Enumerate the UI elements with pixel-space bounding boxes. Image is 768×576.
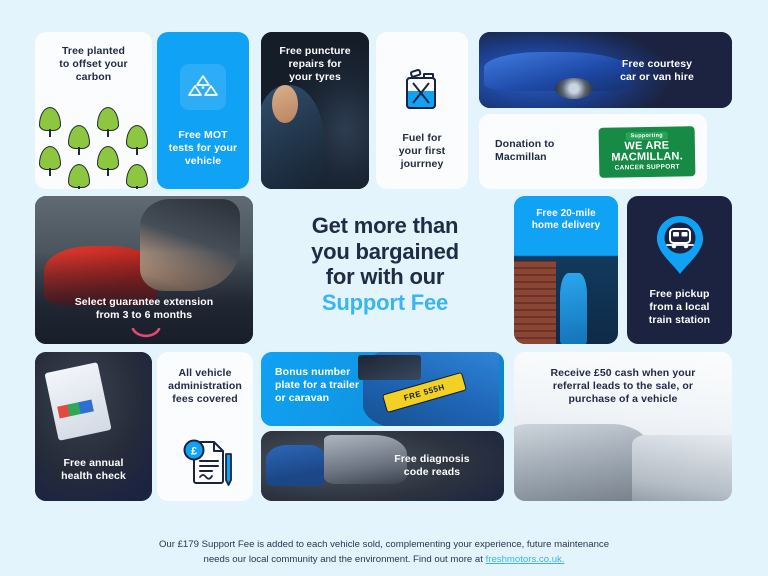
card-admin-line-2: administration bbox=[157, 380, 253, 393]
support-fee-benefits-page: Tree planted to offset your carbon Free … bbox=[0, 0, 768, 576]
card-diagnosis-label: Free diagnosis code reads bbox=[374, 453, 490, 479]
card-tree-line-3: carbon bbox=[43, 71, 144, 84]
card-diagnosis-codes[interactable]: Free diagnosis code reads bbox=[261, 431, 504, 501]
headline-highlight: Support Fee bbox=[266, 290, 504, 316]
card-guarantee-extension[interactable]: Select guarantee extension from 3 to 6 m… bbox=[35, 196, 253, 344]
card-referral-line-3: purchase of a vehicle bbox=[514, 393, 732, 406]
card-admin-fees[interactable]: All vehicle administration fees covered … bbox=[157, 352, 253, 501]
handshake-photo bbox=[35, 196, 253, 344]
card-health-check[interactable]: Free annual health check bbox=[35, 352, 152, 501]
card-courtesy-line-1: Free courtesy bbox=[592, 58, 722, 71]
card-diagnosis-line-1: Free diagnosis bbox=[374, 453, 490, 466]
card-diagnosis-line-2: code reads bbox=[374, 466, 490, 479]
card-macmillan-line-1: Donation to bbox=[495, 138, 587, 151]
tree-pattern-icon bbox=[35, 101, 152, 189]
card-tree-planted[interactable]: Tree planted to offset your carbon bbox=[35, 32, 152, 189]
card-guarantee-line-1: Select guarantee extension bbox=[35, 296, 253, 309]
document-pound-pen-icon: £ bbox=[157, 428, 253, 490]
card-referral-line-2: referral leads to the sale, or bbox=[514, 380, 732, 393]
card-fuel-label: Fuel for your first jourrney bbox=[376, 132, 468, 170]
card-delivery-line-2: home delivery bbox=[514, 220, 618, 232]
card-tree-planted-label: Tree planted to offset your carbon bbox=[35, 32, 152, 83]
page-title: Get more than you bargained for with our… bbox=[266, 196, 504, 315]
footer-disclaimer: Our £179 Support Fee is added to each ve… bbox=[0, 538, 768, 568]
card-courtesy-label: Free courtesy car or van hire bbox=[592, 58, 722, 84]
card-macmillan-line-2: Macmillan bbox=[495, 151, 587, 164]
map-pin-train-icon bbox=[627, 212, 732, 278]
card-referral-cash[interactable]: Receive £50 cash when your referral lead… bbox=[514, 352, 732, 501]
headline-line-2: you bargained bbox=[266, 239, 504, 265]
card-macmillan-label: Donation to Macmillan bbox=[495, 138, 587, 164]
card-delivery-line-1: Free 20-mile bbox=[514, 208, 618, 220]
card-train-pickup[interactable]: Free pickup from a local train station bbox=[627, 196, 732, 344]
card-puncture-line-1: Free puncture bbox=[261, 45, 369, 58]
card-puncture-line-3: your tyres bbox=[261, 71, 369, 84]
card-admin-line-1: All vehicle bbox=[157, 367, 253, 380]
card-admin-label: All vehicle administration fees covered bbox=[157, 352, 253, 405]
fuel-can-icon bbox=[376, 66, 468, 112]
card-puncture-line-2: repairs for bbox=[261, 58, 369, 71]
card-plate-line-1: Bonus number bbox=[275, 366, 395, 379]
card-plate-line-2: plate for a trailer bbox=[275, 379, 395, 392]
card-fuel[interactable]: Fuel for your first jourrney bbox=[376, 32, 468, 189]
card-fuel-line-2: your first bbox=[376, 145, 468, 158]
headline-block: Get more than you bargained for with our… bbox=[266, 196, 504, 344]
card-tree-line-2: to offset your bbox=[43, 58, 144, 71]
card-pickup-line-3: train station bbox=[627, 314, 732, 327]
card-mot-line-2: tests for your bbox=[157, 142, 249, 155]
card-plate-line-3: or caravan bbox=[275, 392, 395, 405]
card-number-plate[interactable]: FRE 555H Bonus number plate for a traile… bbox=[261, 352, 504, 426]
card-puncture-repairs[interactable]: Free puncture repairs for your tyres bbox=[261, 32, 369, 189]
guarantee-arc-icon bbox=[131, 327, 161, 344]
card-pickup-label: Free pickup from a local train station bbox=[627, 288, 732, 326]
card-mot-line-3: vehicle bbox=[157, 155, 249, 168]
card-admin-line-3: fees covered bbox=[157, 393, 253, 406]
footer-line-2-text: needs our local community and the enviro… bbox=[203, 554, 485, 565]
headline-line-3: for with our bbox=[266, 264, 504, 290]
card-health-line-2: health check bbox=[35, 470, 152, 483]
card-mot-line-1: Free MOT bbox=[157, 129, 249, 142]
headline-line-1: Get more than bbox=[266, 213, 504, 239]
footer-website-link[interactable]: freshmotors.co.uk. bbox=[486, 554, 565, 565]
macmillan-logo-line-3: CANCER SUPPORT bbox=[615, 164, 680, 172]
svg-text:£: £ bbox=[191, 446, 197, 458]
card-referral-label: Receive £50 cash when your referral lead… bbox=[514, 367, 732, 405]
card-tree-line-1: Tree planted bbox=[43, 45, 144, 58]
card-courtesy-line-2: car or van hire bbox=[592, 71, 722, 84]
card-free-mot-label: Free MOT tests for your vehicle bbox=[157, 129, 249, 167]
card-puncture-label: Free puncture repairs for your tyres bbox=[261, 45, 369, 83]
card-plate-label: Bonus number plate for a trailer or cara… bbox=[275, 366, 395, 404]
footer-line-2: needs our local community and the enviro… bbox=[0, 553, 768, 568]
macmillan-logo: Supporting WE ARE MACMILLAN. CANCER SUPP… bbox=[599, 126, 696, 178]
mot-triangles-icon bbox=[157, 64, 249, 110]
card-health-line-1: Free annual bbox=[35, 457, 152, 470]
card-home-delivery[interactable]: Free 20-mile home delivery bbox=[514, 196, 618, 344]
card-health-label: Free annual health check bbox=[35, 457, 152, 483]
card-referral-line-1: Receive £50 cash when your bbox=[514, 367, 732, 380]
card-guarantee-line-2: from 3 to 6 months bbox=[35, 309, 253, 322]
card-fuel-line-1: Fuel for bbox=[376, 132, 468, 145]
card-free-mot[interactable]: Free MOT tests for your vehicle bbox=[157, 32, 249, 189]
footer-line-1: Our £179 Support Fee is added to each ve… bbox=[0, 538, 768, 553]
card-courtesy-car[interactable]: Free courtesy car or van hire bbox=[479, 32, 732, 108]
card-macmillan-donation[interactable]: Donation to Macmillan Supporting WE ARE … bbox=[479, 114, 707, 189]
card-fuel-line-3: jourrney bbox=[376, 158, 468, 171]
card-delivery-label: Free 20-mile home delivery bbox=[514, 208, 618, 232]
card-guarantee-label: Select guarantee extension from 3 to 6 m… bbox=[35, 296, 253, 322]
macmillan-logo-line-2: MACMILLAN. bbox=[611, 151, 683, 164]
card-pickup-line-2: from a local bbox=[627, 301, 732, 314]
card-pickup-line-1: Free pickup bbox=[627, 288, 732, 301]
